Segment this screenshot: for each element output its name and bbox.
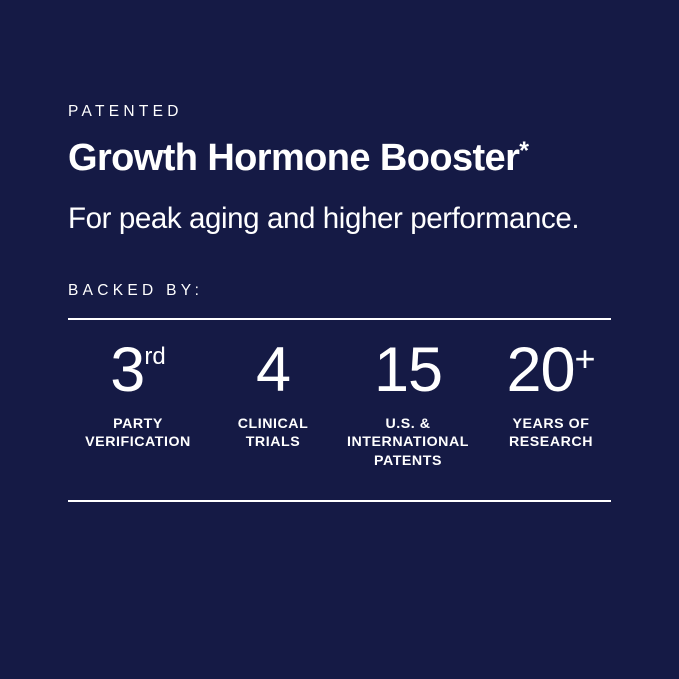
stat-item: 4 CLINICAL TRIALS bbox=[214, 340, 332, 452]
stat-number-suffix: + bbox=[575, 338, 596, 379]
promo-card: PATENTED Growth Hormone Booster* For pea… bbox=[0, 0, 679, 679]
stat-label: CLINICAL TRIALS bbox=[238, 415, 309, 452]
stat-label: U.S. & INTERNATIONAL PATENTS bbox=[347, 415, 469, 471]
backed-by-label: BACKED BY: bbox=[68, 283, 203, 299]
stat-item: 20+ YEARS OF RESEARCH bbox=[484, 340, 618, 452]
stat-number: 3rd bbox=[110, 340, 165, 402]
header-block: PATENTED Growth Hormone Booster* For pea… bbox=[68, 104, 628, 235]
stat-item: 3rd PARTY VERIFICATION bbox=[62, 340, 214, 452]
divider-bottom bbox=[68, 500, 611, 502]
subtitle: For peak aging and higher performance. bbox=[68, 203, 628, 235]
page-title: Growth Hormone Booster* bbox=[68, 139, 628, 178]
stat-number-value: 15 bbox=[374, 335, 442, 405]
stat-number: 20+ bbox=[506, 340, 595, 402]
stat-item: 15 U.S. & INTERNATIONAL PATENTS bbox=[332, 340, 484, 471]
stat-number-value: 3 bbox=[110, 335, 144, 405]
asterisk-footnote-marker: * bbox=[519, 137, 529, 165]
stat-number-value: 4 bbox=[256, 335, 290, 405]
eyebrow-patented: PATENTED bbox=[68, 104, 628, 120]
stat-number: 15 bbox=[374, 340, 442, 402]
stat-number-superscript: rd bbox=[144, 343, 165, 370]
stat-label: PARTY VERIFICATION bbox=[85, 415, 191, 452]
page-title-text: Growth Hormone Booster bbox=[68, 137, 519, 179]
stat-label: YEARS OF RESEARCH bbox=[509, 415, 593, 452]
divider-top bbox=[68, 318, 611, 320]
stats-grid: 3rd PARTY VERIFICATION 4 CLINICAL TRIALS… bbox=[62, 340, 618, 471]
stat-number-value: 20 bbox=[506, 335, 574, 405]
stat-number: 4 bbox=[256, 340, 290, 402]
